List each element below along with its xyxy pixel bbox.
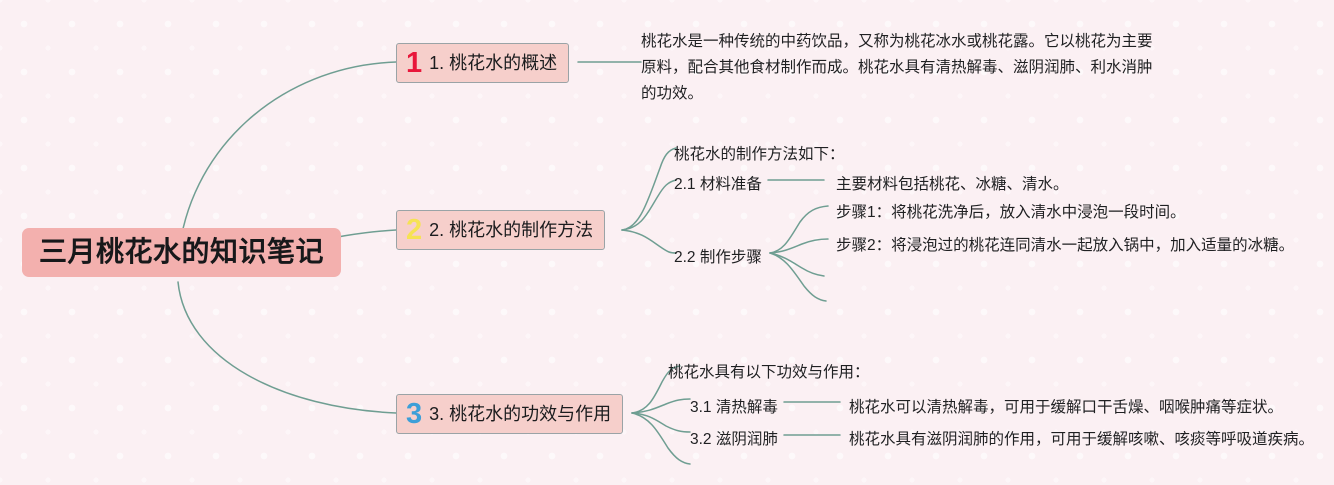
connector-2-2-to-step-2 [770,239,828,253]
leaf-2-2-label[interactable]: 2.2 制作步骤 [674,245,762,270]
leaf-2-2-step-2[interactable]: 步骤2：将浸泡过的桃花连同清水一起放入锅中，加入适量的冰糖。 [836,233,1294,258]
leaf-overview-description[interactable]: 桃花水是一种传统的中药饮品，又称为桃花冰水或桃花露。它以桃花为主要原料，配合其他… [641,29,1155,107]
leaf-3-1-label[interactable]: 3.1 清热解毒 [690,395,778,420]
root-node[interactable]: 三月桃花水的知识笔记 [22,228,341,277]
branch-number-1: 1 [406,50,422,77]
connector-branch-2-to-head [622,148,676,230]
root-title: 三月桃花水的知识笔记 [39,235,324,268]
branch-label-3: 3. 桃花水的功效与作用 [429,404,611,426]
connector-branch-3-to-3-1 [632,399,690,413]
leaf-3-2-value[interactable]: 桃花水具有滋阴润肺的作用，可用于缓解咳嗽、咳痰等呼吸道疾病。 [849,427,1314,452]
leaf-3-2-label[interactable]: 3.2 滋阴润肺 [690,427,778,452]
connector-2-2-to-empty-1 [770,253,824,276]
branch-node-1[interactable]: 1 1. 桃花水的概述 [396,43,569,83]
leaf-2-2-step-1[interactable]: 步骤1：将桃花洗净后，放入清水中浸泡一段时间。 [836,200,1186,225]
connector-2-2-to-empty-2 [770,253,826,301]
leaf-3-1-value[interactable]: 桃花水可以清热解毒，可用于缓解口干舌燥、咽喉肿痛等症状。 [849,395,1283,420]
leaf-2-1-label[interactable]: 2.1 材料准备 [674,172,762,197]
connector-root-to-branch-3 [178,282,396,413]
connector-branch-2-to-2-2 [622,230,676,253]
connector-branch-3-to-3-2 [632,413,690,432]
leaf-2-1-value[interactable]: 主要材料包括桃花、冰糖、清水。 [836,172,1069,197]
connector-2-2-to-step-1 [770,206,828,253]
branch-node-3[interactable]: 3 3. 桃花水的功效与作用 [396,394,623,434]
connector-branch-3-to-empty-1 [632,413,690,464]
branch-label-1: 1. 桃花水的概述 [429,53,557,75]
branch-node-2[interactable]: 2 2. 桃花水的制作方法 [396,210,605,250]
branch-number-3: 3 [406,401,422,428]
leaf-effects-heading[interactable]: 桃花水具有以下功效与作用： [668,360,870,385]
branch-number-2: 2 [406,217,422,244]
mindmap-canvas[interactable]: 三月桃花水的知识笔记 1 1. 桃花水的概述 2 2. 桃花水的制作方法 3 3… [0,0,1334,485]
leaf-method-heading[interactable]: 桃花水的制作方法如下： [674,142,845,167]
branch-label-2: 2. 桃花水的制作方法 [429,220,593,242]
connector-branch-2-to-2-1 [622,180,676,230]
